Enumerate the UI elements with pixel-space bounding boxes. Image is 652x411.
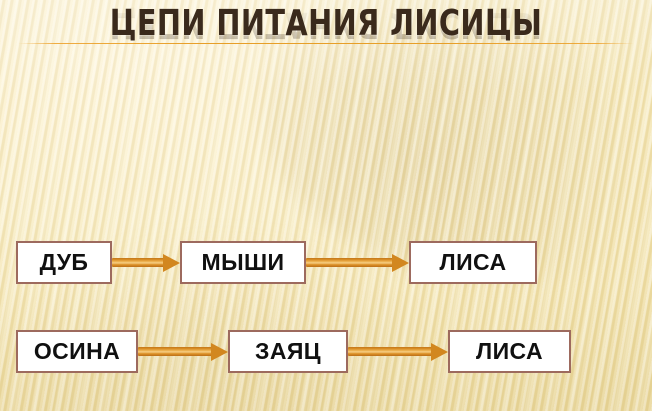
chain-node-label: ЛИСА (440, 251, 507, 274)
title-block: ЦЕПИ ПИТАНИЯ ЛИСИЦЫ ЦЕПИ ПИТАНИЯ ЛИСИЦЫ (0, 0, 652, 72)
food-chain-row-2: ОСИНА ЗАЯЦ ЛИСА (16, 330, 571, 373)
chain-node-label: ОСИНА (34, 340, 120, 363)
chain-node-osina[interactable]: ОСИНА (16, 330, 138, 373)
slide-canvas: ЦЕПИ ПИТАНИЯ ЛИСИЦЫ ЦЕПИ ПИТАНИЯ ЛИСИЦЫ … (0, 0, 652, 411)
arrow-head (392, 254, 409, 272)
chain-node-myshi[interactable]: МЫШИ (180, 241, 306, 284)
arrow-shaft (306, 258, 393, 267)
arrow-head (211, 343, 228, 361)
chain-node-label: ЛИСА (476, 340, 543, 363)
arrow-right-icon (306, 255, 409, 271)
arrow-head (431, 343, 448, 361)
chain-node-lisa-1[interactable]: ЛИСА (409, 241, 537, 284)
page-title: ЦЕПИ ПИТАНИЯ ЛИСИЦЫ (65, 2, 587, 46)
arrow-shaft (138, 347, 212, 356)
arrow-head (163, 254, 180, 272)
chain-node-label: МЫШИ (202, 251, 285, 274)
arrow-right-icon (112, 255, 180, 271)
arrow-shaft (348, 347, 432, 356)
chain-node-dub[interactable]: ДУБ (16, 241, 112, 284)
chain-node-lisa-2[interactable]: ЛИСА (448, 330, 571, 373)
arrow-shaft (112, 258, 164, 267)
chain-node-label: ДУБ (40, 251, 89, 274)
arrow-right-icon (348, 344, 448, 360)
chain-node-zayac[interactable]: ЗАЯЦ (228, 330, 348, 373)
arrow-right-icon (138, 344, 228, 360)
chain-node-label: ЗАЯЦ (255, 340, 321, 363)
food-chain-row-1: ДУБ МЫШИ ЛИСА (16, 241, 537, 284)
